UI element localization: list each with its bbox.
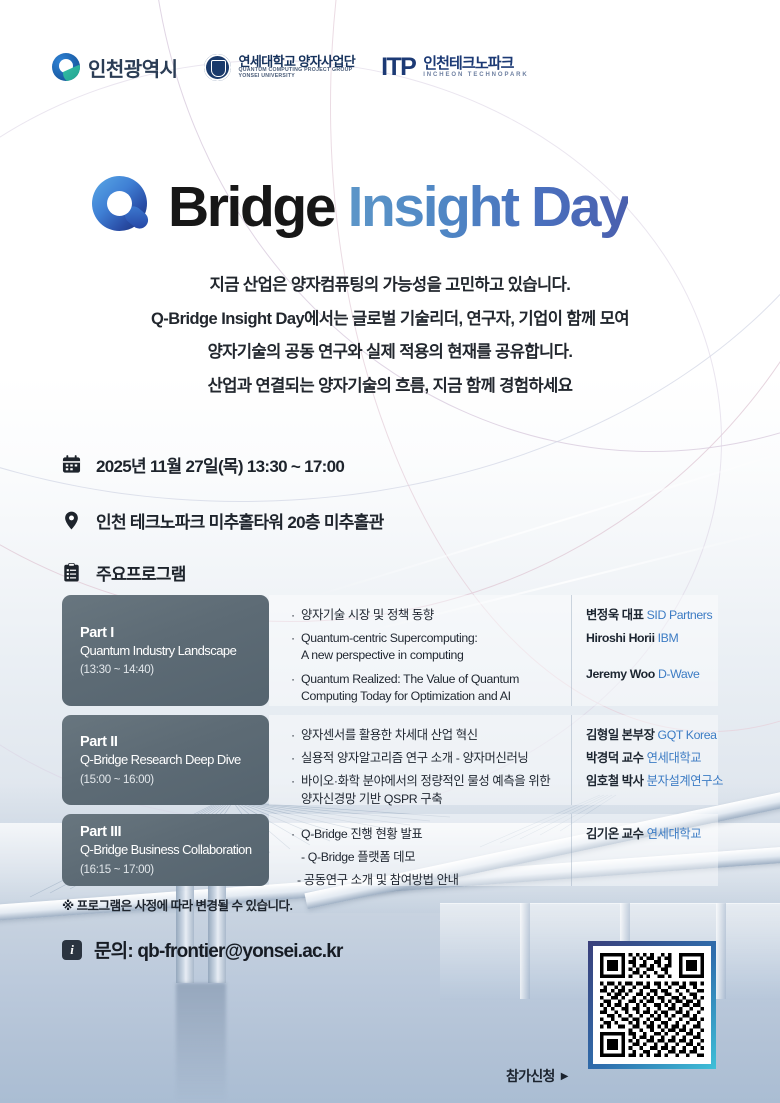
speaker-name: 박경덕 교수 [586, 751, 644, 765]
speaker-entry: 김형일 본부장 GQT Korea [586, 727, 708, 745]
part-title: Q-Bridge Research Deep Dive [80, 752, 269, 768]
speaker-name: Jeremy Woo [586, 667, 655, 681]
apply-label: 참가신청 [506, 1066, 555, 1086]
speaker-entry: Hiroshi Horii IBM [586, 630, 708, 648]
speaker-entry: 임호철 박사 분자설계연구소 [586, 773, 708, 791]
part-title: Q-Bridge Business Collaboration [80, 842, 269, 858]
topic-text: 바이오·화학 분야에서의 정량적인 물성 예측을 위한 양자신경망 기반 QSP… [301, 774, 550, 805]
program-speakers: 변정욱 대표 SID Partners Hiroshi Horii IBM Je… [571, 595, 718, 706]
incheon-city-logo-icon [52, 53, 80, 81]
topic-item: ·Quantum Realized: The Value of Quantum … [291, 671, 559, 705]
speaker-entry: 김기온 교수 연세대학교 [586, 826, 708, 844]
itp-label-kr: 인천테크노파크 [423, 56, 528, 72]
bullet-glyph: · [291, 750, 295, 767]
speaker-org: 연세대학교 [647, 751, 702, 765]
program-note: ※ 프로그램은 사정에 따라 변경될 수 있습니다. [62, 895, 292, 914]
event-date-row: 2025년 11월 27일(목) 13:30 ~ 17:00 [62, 452, 344, 477]
topic-item: - 공동연구 소개 및 참여방법 안내 [291, 872, 559, 889]
program-table: Part I Quantum Industry Landscape (13:30… [62, 595, 718, 895]
topic-text: - Q-Bridge 플랫폼 데모 [301, 850, 415, 864]
speaker-org: D-Wave [658, 667, 700, 681]
event-title: Bridge Insight Day [92, 176, 628, 238]
topic-text: Quantum-centric Supercomputing: A new pe… [301, 631, 477, 662]
building-glass-column [716, 903, 726, 999]
bullet-glyph: · [291, 727, 295, 744]
speaker-org: IBM [658, 631, 679, 645]
topic-item: ·양자센서를 활용한 차세대 산업 혁신 [291, 727, 559, 744]
speaker-org: 분자설계연구소 [647, 774, 723, 788]
event-date-text: 2025년 11월 27일(목) 13:30 ~ 17:00 [96, 452, 344, 477]
topic-item: ·실용적 양자알고리즘 연구 소개 - 양자머신러닝 [291, 750, 559, 767]
program-row: Part II Q-Bridge Research Deep Dive (15:… [62, 715, 718, 805]
speaker-name: 임호철 박사 [586, 774, 644, 788]
topic-item: ·바이오·화학 분야에서의 정량적인 물성 예측을 위한 양자신경망 기반 QS… [291, 773, 559, 807]
program-row: Part I Quantum Industry Landscape (13:30… [62, 595, 718, 706]
qr-code-icon [600, 953, 704, 1057]
program-heading-row: 주요프로그램 [62, 560, 186, 585]
topic-item: ·양자기술 시장 및 정책 동향 [291, 607, 559, 624]
bridge-pylon-reflection [176, 983, 226, 1103]
intro-line: 양자기술의 공동 연구와 실제 적용의 현재를 공유합니다. [0, 344, 780, 361]
yonsei-label-group: 연세대학교 양자사업단 QUANTUM COMPUTING PROJECT GR… [239, 55, 356, 80]
program-part-box: Part I Quantum Industry Landscape (13:30… [62, 595, 269, 706]
yonsei-university-seal-icon [204, 54, 231, 81]
topic-item: - Q-Bridge 플랫폼 데모 [291, 849, 559, 866]
logo-itp: ITP 인천테크노파크 INCHEON TECHNOPARK [381, 55, 529, 80]
program-topics: ·양자기술 시장 및 정책 동향 ·Quantum-centric Superc… [269, 595, 571, 706]
topic-item: ·Q-Bridge 진행 현황 발표 [291, 826, 559, 843]
part-hours: (13:30 ~ 14:40) [80, 664, 269, 676]
part-hours: (16:15 ~ 17:00) [80, 864, 269, 876]
yonsei-label-en2: YONSEI UNIVERSITY [239, 74, 356, 79]
title-words: Bridge Insight Day [168, 179, 628, 236]
bullet-glyph: · [291, 607, 295, 624]
topic-text: 실용적 양자알고리즘 연구 소개 - 양자머신러닝 [301, 751, 528, 765]
speaker-name: 변정욱 대표 [586, 608, 644, 622]
itp-label-group: 인천테크노파크 INCHEON TECHNOPARK [423, 56, 528, 79]
speaker-org: SID Partners [647, 608, 713, 622]
yonsei-label-kr: 연세대학교 양자사업단 [239, 55, 356, 69]
part-title: Quantum Industry Landscape [80, 643, 269, 659]
contact-email-text[interactable]: 문의: qb-frontier@yonsei.ac.kr [94, 936, 343, 963]
qr-code-inner [593, 946, 711, 1064]
program-heading-text: 주요프로그램 [96, 560, 186, 585]
part-number: Part I [80, 625, 269, 641]
bullet-glyph: · [291, 826, 295, 843]
event-place-row: 인천 테크노파크 미추홀타워 20층 미추홀관 [62, 508, 384, 533]
speaker-org: GQT Korea [658, 728, 717, 742]
map-pin-icon [62, 510, 81, 531]
logo-yonsei-quantum: 연세대학교 양자사업단 QUANTUM COMPUTING PROJECT GR… [204, 54, 356, 81]
speaker-org: 연세대학교 [647, 827, 702, 841]
event-place-text: 인천 테크노파크 미추홀타워 20층 미추홀관 [96, 508, 384, 533]
intro-line: 지금 산업은 양자컴퓨팅의 가능성을 고민하고 있습니다. [0, 277, 780, 294]
sponsor-logo-bar: 인천광역시 연세대학교 양자사업단 QUANTUM COMPUTING PROJ… [0, 42, 780, 92]
topic-text: 양자센서를 활용한 차세대 산업 혁신 [301, 728, 478, 742]
speaker-entry: 박경덕 교수 연세대학교 [586, 750, 708, 768]
speaker-spacer [586, 653, 708, 666]
speaker-entry: 변정욱 대표 SID Partners [586, 607, 708, 625]
speaker-name: 김기온 교수 [586, 827, 644, 841]
speaker-entry: Jeremy Woo D-Wave [586, 666, 708, 684]
speaker-name: Hiroshi Horii [586, 631, 655, 645]
topic-text: Quantum Realized: The Value of Quantum C… [301, 672, 519, 703]
title-insight-day: Insight Day [348, 175, 629, 239]
calendar-icon [62, 454, 81, 475]
program-speakers: 김형일 본부장 GQT Korea 박경덕 교수 연세대학교 임호철 박사 분자… [571, 715, 718, 805]
part-hours: (15:00 ~ 16:00) [80, 774, 269, 786]
q-bridge-q-mark-icon [92, 176, 154, 238]
bullet-glyph: · [291, 630, 295, 647]
title-bridge: Bridge [168, 175, 334, 239]
logo-incheon-city: 인천광역시 [52, 53, 178, 82]
intro-paragraph: 지금 산업은 양자컴퓨팅의 가능성을 고민하고 있습니다. Q-Bridge I… [0, 277, 780, 411]
part-number: Part III [80, 824, 269, 840]
qr-code-frame[interactable] [588, 941, 716, 1069]
apply-cta[interactable]: 참가신청 ▶ [506, 1066, 568, 1086]
topic-text: - 공동연구 소개 및 참여방법 안내 [297, 873, 459, 887]
building-glass-column [520, 903, 530, 999]
bullet-glyph: · [291, 773, 295, 790]
speaker-name: 김형일 본부장 [586, 728, 655, 742]
program-topics: ·양자센서를 활용한 차세대 산업 혁신 ·실용적 양자알고리즘 연구 소개 -… [269, 715, 571, 805]
contact-row: i 문의: qb-frontier@yonsei.ac.kr [62, 936, 343, 963]
bullet-glyph: · [291, 671, 295, 688]
incheon-city-label: 인천광역시 [88, 53, 178, 82]
info-badge-icon: i [62, 940, 82, 960]
part-number: Part II [80, 734, 269, 750]
topic-item: ·Quantum-centric Supercomputing: A new p… [291, 630, 559, 664]
program-row: Part III Q-Bridge Business Collaboration… [62, 814, 718, 886]
topic-text: Q-Bridge 진행 현황 발표 [301, 827, 422, 841]
intro-line: Q-Bridge Insight Day에서는 글로벌 기술리더, 연구자, 기… [0, 311, 780, 328]
itp-wordmark: ITP [381, 55, 415, 80]
itp-label-en: INCHEON TECHNOPARK [423, 72, 528, 78]
program-part-box: Part II Q-Bridge Research Deep Dive (15:… [62, 715, 269, 805]
program-topics: ·Q-Bridge 진행 현황 발표 - Q-Bridge 플랫폼 데모 - 공… [269, 814, 571, 886]
intro-line: 산업과 연결되는 양자기술의 흐름, 지금 함께 경험하세요 [0, 378, 780, 395]
program-part-box: Part III Q-Bridge Business Collaboration… [62, 814, 269, 886]
topic-text: 양자기술 시장 및 정책 동향 [301, 608, 434, 622]
poster-root: 인천광역시 연세대학교 양자사업단 QUANTUM COMPUTING PROJ… [0, 0, 780, 1103]
clipboard-list-icon [62, 562, 81, 583]
program-speakers: 김기온 교수 연세대학교 [571, 814, 718, 886]
arrow-right-icon: ▶ [561, 1071, 568, 1082]
